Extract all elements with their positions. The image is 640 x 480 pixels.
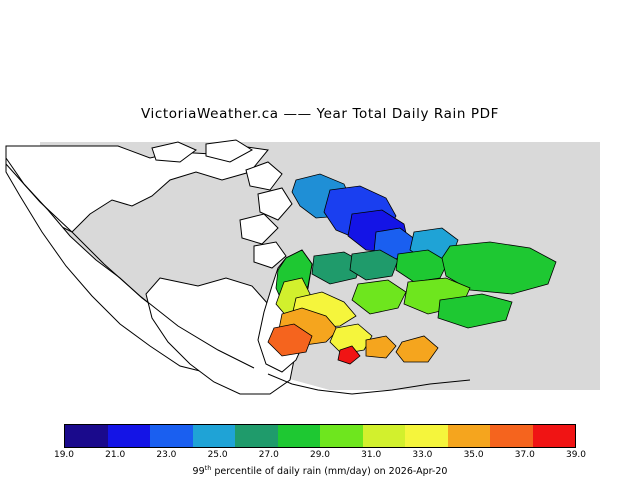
colorbar-caption: 99th percentile of daily rain (mm/day) o…	[0, 464, 640, 477]
map-panel	[0, 128, 640, 408]
caption-prefix: 99	[193, 466, 205, 477]
colorbar-tick-23.0: 23.0	[156, 450, 176, 460]
colorbar-tick-35.0: 35.0	[464, 450, 484, 460]
map-svg	[0, 128, 640, 408]
colorbar-segment-1	[108, 425, 151, 447]
colorbar-tick-37.0: 37.0	[515, 450, 535, 460]
colorbar-segment-0	[65, 425, 108, 447]
colorbar-tick-27.0: 27.0	[259, 450, 279, 460]
colorbar-tick-31.0: 31.0	[361, 450, 381, 460]
page-title: VictoriaWeather.ca —— Year Total Daily R…	[0, 106, 640, 122]
colorbar-tick-39.0: 39.0	[566, 450, 586, 460]
colorbar-segment-8	[405, 425, 448, 447]
colorbar-segment-2	[150, 425, 193, 447]
colorbar-tick-29.0: 29.0	[310, 450, 330, 460]
colorbar-segment-11	[533, 425, 576, 447]
colorbar	[64, 424, 576, 448]
colorbar-tick-19.0: 19.0	[54, 450, 74, 460]
colorbar-tick-labels: 19.021.023.025.027.029.031.033.035.037.0…	[0, 450, 640, 464]
caption-rest: percentile of daily rain (mm/day) on 202…	[211, 466, 447, 477]
colorbar-segment-3	[193, 425, 236, 447]
colorbar-tick-21.0: 21.0	[105, 450, 125, 460]
colorbar-tick-33.0: 33.0	[412, 450, 432, 460]
colorbar-segment-10	[490, 425, 533, 447]
colorbar-segment-5	[278, 425, 321, 447]
colorbar-segment-6	[320, 425, 363, 447]
colorbar-segment-9	[448, 425, 491, 447]
colorbar-segment-4	[235, 425, 278, 447]
colorbar-segment-7	[363, 425, 406, 447]
colorbar-tick-25.0: 25.0	[208, 450, 228, 460]
